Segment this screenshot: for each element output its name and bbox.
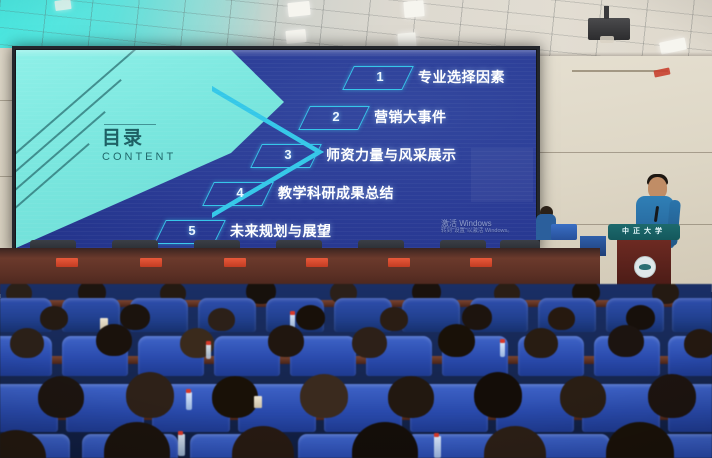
ceiling-light-panel bbox=[403, 0, 424, 18]
water-bottle bbox=[206, 344, 211, 359]
audience-head bbox=[268, 325, 304, 357]
projector-lens bbox=[600, 36, 614, 43]
agenda-item-label: 教学科研成果总结 bbox=[278, 183, 394, 203]
operator-laptop bbox=[551, 224, 577, 240]
agenda-item-label: 未来规划与展望 bbox=[230, 221, 332, 241]
auditorium-photo-scene: 目录 CONTENT 1 专业选择因素 2 营销大事件 3 师资力量与风采展示 … bbox=[0, 0, 712, 458]
water-bottle bbox=[434, 436, 441, 458]
water-bottle bbox=[186, 392, 192, 410]
name-placard bbox=[388, 258, 410, 267]
screen-top-glare bbox=[16, 50, 536, 57]
slide-title-rule bbox=[104, 124, 156, 125]
audience-head bbox=[380, 307, 408, 331]
screen-panel-seam bbox=[471, 148, 533, 202]
agenda-item-number: 2 bbox=[324, 108, 348, 126]
name-placard bbox=[224, 258, 246, 267]
audience-head bbox=[96, 324, 132, 356]
ceiling-light-panel bbox=[287, 1, 310, 17]
podium-sign-text: 中正大学 bbox=[614, 227, 674, 237]
audience-head bbox=[608, 325, 644, 357]
agenda-item-label: 营销大事件 bbox=[374, 107, 447, 127]
audience-area bbox=[0, 284, 712, 458]
audience-head bbox=[10, 328, 44, 358]
agenda-item-label: 专业选择因素 bbox=[418, 67, 505, 87]
name-placard bbox=[306, 258, 328, 267]
university-crest-icon bbox=[634, 256, 656, 278]
agenda-item-number: 3 bbox=[276, 146, 300, 164]
audience-head bbox=[388, 376, 434, 418]
audience-head bbox=[352, 327, 387, 358]
name-placard bbox=[140, 258, 162, 267]
audience-head bbox=[40, 306, 68, 330]
audience-head bbox=[300, 374, 348, 418]
audience-head bbox=[438, 324, 475, 357]
name-placard bbox=[470, 258, 492, 267]
audience-head bbox=[560, 376, 606, 418]
audience-head bbox=[126, 372, 174, 418]
windows-activation-watermark: 激活 Windows 转到"设置"以激活 Windows。 bbox=[441, 219, 513, 235]
watermark-line-1: 激活 Windows bbox=[441, 219, 513, 228]
agenda-item-number: 4 bbox=[228, 184, 252, 202]
slide-title-cn: 目录 bbox=[102, 128, 176, 149]
slide-title-en: CONTENT bbox=[102, 151, 176, 163]
audience-head bbox=[548, 307, 575, 330]
audience-head bbox=[684, 329, 712, 358]
water-bottle bbox=[178, 434, 185, 456]
agenda-item-number: 5 bbox=[180, 222, 204, 240]
ceiling-light-panel bbox=[285, 29, 306, 44]
audience-head bbox=[648, 374, 696, 418]
watermark-line-2: 转到"设置"以激活 Windows。 bbox=[441, 228, 513, 235]
agenda-item-label: 师资力量与风采展示 bbox=[326, 145, 457, 165]
audience-seat bbox=[672, 298, 712, 332]
podium: 中正大学 bbox=[608, 224, 680, 288]
water-bottle bbox=[500, 342, 505, 357]
audience-head bbox=[208, 308, 235, 331]
paper-cup bbox=[254, 396, 262, 408]
audience-head bbox=[296, 305, 325, 330]
slide-title: 目录 CONTENT bbox=[102, 128, 176, 163]
audience-head bbox=[474, 372, 522, 418]
audience-head bbox=[524, 328, 558, 358]
agenda-item-number: 1 bbox=[368, 68, 392, 86]
name-placard bbox=[56, 258, 78, 267]
audience-head bbox=[212, 376, 258, 418]
audience-head bbox=[38, 376, 84, 418]
